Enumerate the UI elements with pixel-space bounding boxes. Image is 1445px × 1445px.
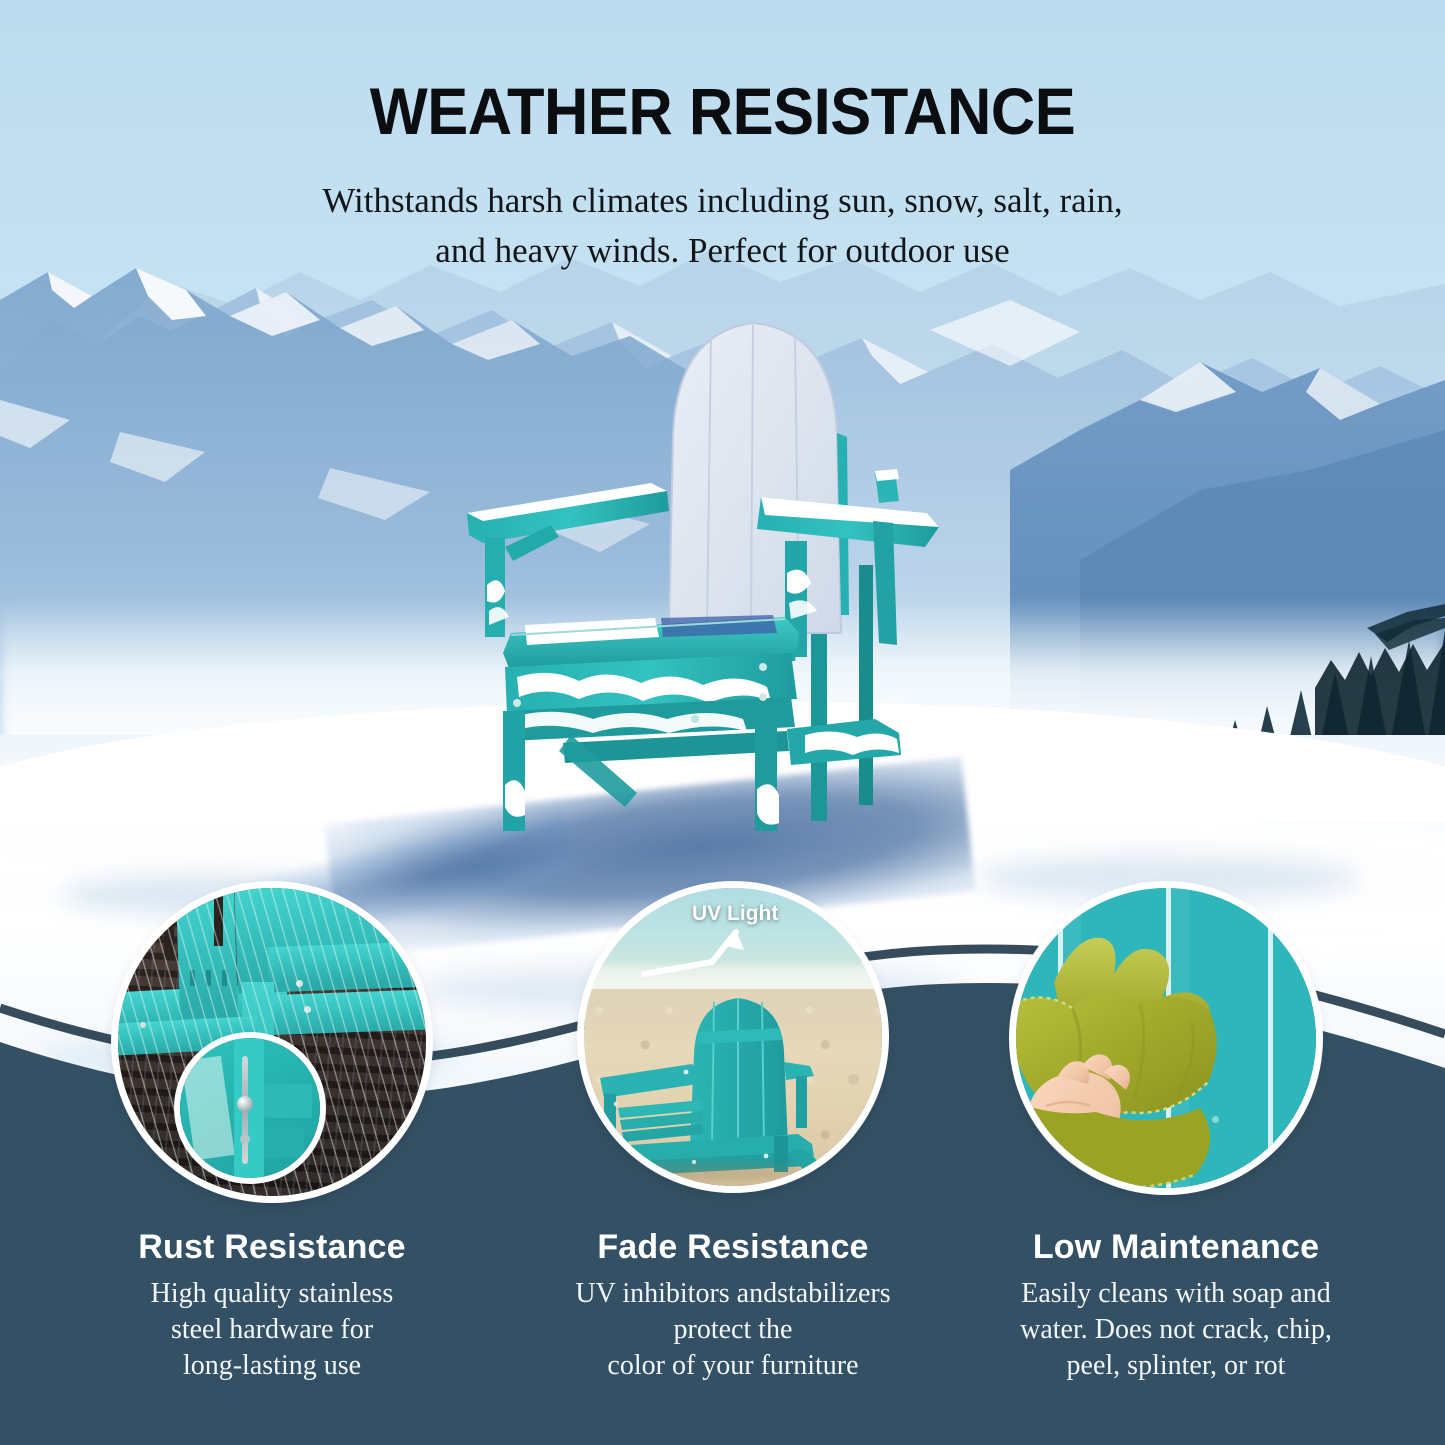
feature-title-low-maintenance: Low Maintenance bbox=[966, 1228, 1386, 1267]
feature-body-line-1: UV inhibitors andstabilizers bbox=[575, 1278, 890, 1309]
feature-title-rust-resistance: Rust Resistance bbox=[72, 1228, 472, 1267]
feature-caption-fade-resistance: Fade Resistance UV inhibitors andstabili… bbox=[518, 1228, 948, 1383]
feature-title-fade-resistance: Fade Resistance bbox=[518, 1228, 948, 1267]
feature-caption-rust-resistance: Rust Resistance High quality stainless s… bbox=[72, 1228, 472, 1383]
weather-resistance-infographic: WEATHER RESISTANCE Withstands harsh clim… bbox=[0, 0, 1445, 1445]
feature-image-rust-resistance bbox=[118, 888, 426, 1196]
page-title: WEATHER RESISTANCE bbox=[51, 73, 1395, 149]
hardware-detail-inset bbox=[180, 1038, 320, 1178]
feature-body-line-1: Easily cleans with soap and bbox=[1021, 1278, 1330, 1309]
feature-body-line-3: color of your furniture bbox=[607, 1350, 858, 1381]
feature-body-line-2: water. Does not crack, chip, bbox=[1020, 1314, 1332, 1345]
feature-body-line-3: peel, splinter, or rot bbox=[1067, 1350, 1286, 1381]
feature-body-line-2: steel hardware for bbox=[171, 1314, 373, 1345]
feature-caption-low-maintenance: Low Maintenance Easily cleans with soap … bbox=[966, 1228, 1386, 1383]
page-subtitle: Withstands harsh climates including sun,… bbox=[218, 176, 1228, 275]
feature-body-line-1: High quality stainless bbox=[151, 1278, 394, 1309]
uv-light-arrow-icon bbox=[640, 924, 770, 986]
feature-body-line-2: protect the bbox=[674, 1314, 793, 1345]
subtitle-line-2: and heavy winds. Perfect for outdoor use bbox=[218, 226, 1228, 276]
hero-adirondack-chair bbox=[455, 315, 955, 855]
uv-light-label: UV Light bbox=[692, 902, 778, 926]
subtitle-line-1: Withstands harsh climates including sun,… bbox=[218, 176, 1228, 226]
feature-body-line-3: long-lasting use bbox=[183, 1350, 361, 1381]
feature-image-fade-resistance: UV Light bbox=[584, 888, 882, 1186]
feature-image-low-maintenance bbox=[1016, 888, 1316, 1188]
